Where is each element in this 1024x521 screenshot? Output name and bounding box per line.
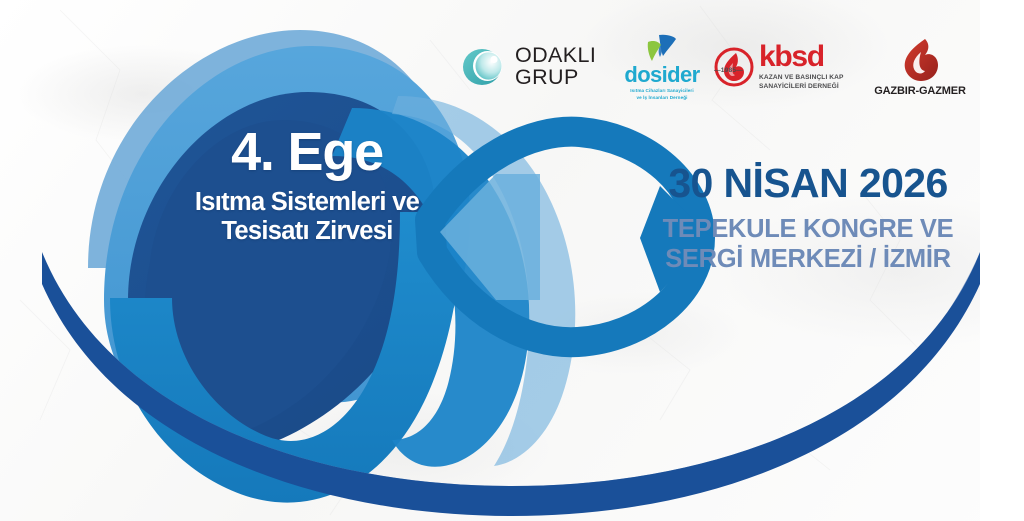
event-subtitle-line-2: Tesisatı Zirvesi [152, 217, 462, 246]
kbsd-tagline: KAZAN VE BASINÇLI KAP SANAYİCİLERİ DERNE… [759, 73, 844, 92]
odakli-name-line-1: ODAKLI [515, 45, 596, 67]
event-venue-line-1: TEPEKULE KONGRE VE [662, 214, 954, 244]
kbsd-established-year: —1985— [714, 67, 743, 74]
event-banner: 4. Ege Isıtma Sistemleri ve Tesisatı Zir… [0, 0, 1024, 521]
dosider-tagline: Isıtma Cihazları Sanayicileri ve İş İnsa… [630, 88, 693, 100]
kbsd-wordmark: kbsd [759, 43, 844, 71]
gazbir-gazmer-wordmark: GAZBIR-GAZMER [874, 85, 966, 97]
logo-dosider[interactable]: dosider Isıtma Cihazları Sanayicileri ve… [610, 26, 714, 108]
odakli-crescent-circle-icon [462, 46, 506, 88]
event-venue-line-2: SERGİ MERKEZİ / İZMİR [662, 244, 954, 274]
dosider-leaf-icon [646, 33, 678, 63]
event-date-venue-block: 30 NİSAN 2026 TEPEKULE KONGRE VE SERGİ M… [662, 163, 954, 274]
dosider-wordmark: dosider [624, 64, 699, 86]
odakli-grup-wordmark: ODAKLI GRUP [515, 45, 596, 89]
logo-gazbir-gazmer[interactable]: GAZBIR-GAZMER [866, 26, 974, 108]
kbsd-tagline-line-1: KAZAN VE BASINÇLI KAP [759, 73, 844, 82]
logo-odakli-grup[interactable]: ODAKLI GRUP [462, 26, 610, 108]
gazbir-flame-icon [899, 38, 941, 82]
dosider-tagline-line-1: Isıtma Cihazları Sanayicileri [630, 88, 693, 94]
event-title-block: 4. Ege Isıtma Sistemleri ve Tesisatı Zir… [152, 126, 462, 246]
logo-kbsd[interactable]: kbsd KAZAN VE BASINÇLI KAP SANAYİCİLERİ … [714, 26, 866, 108]
kbsd-tagline-line-2: SANAYİCİLERİ DERNEĞİ [759, 82, 844, 91]
event-subtitle-line-1: Isıtma Sistemleri ve [152, 188, 462, 217]
sponsor-logo-row: ODAKLI GRUP dosider Isıtma Cihazları San… [462, 26, 974, 108]
dosider-tagline-line-2: ve İş İnsanları Derneği [630, 95, 693, 101]
event-date: 30 NİSAN 2026 [662, 163, 954, 204]
event-edition-title: 4. Ege [152, 126, 462, 179]
odakli-name-line-2: GRUP [515, 67, 596, 89]
right-white-margin [980, 0, 1024, 521]
